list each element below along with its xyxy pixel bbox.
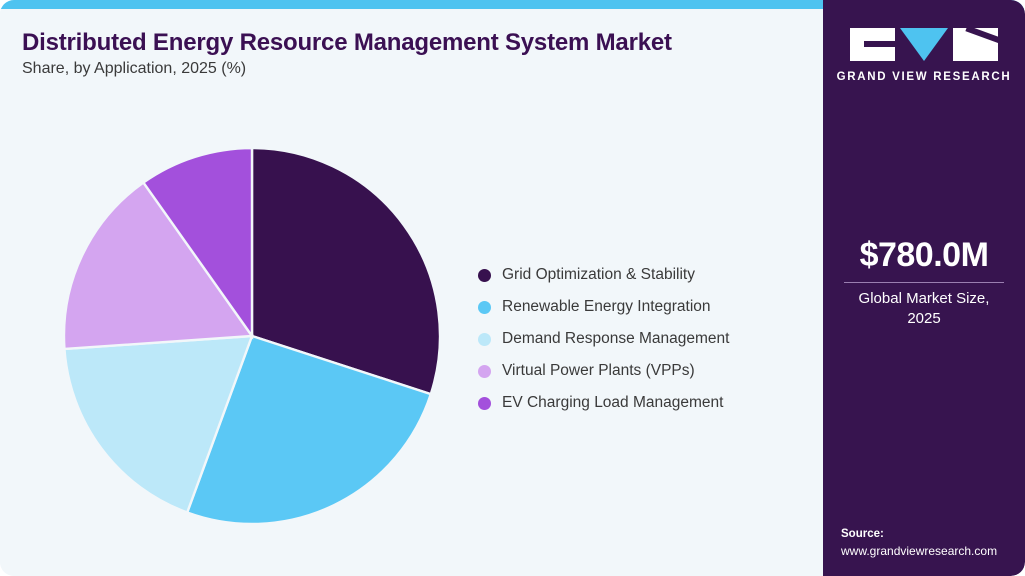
source-title: Source: bbox=[841, 526, 1021, 543]
market-size-value: $780.0M bbox=[823, 236, 1025, 275]
legend-item[interactable]: EV Charging Load Management bbox=[478, 387, 808, 419]
logo-g-icon bbox=[850, 28, 895, 61]
logo-marks bbox=[823, 28, 1025, 62]
chart-legend: Grid Optimization & StabilityRenewable E… bbox=[478, 259, 808, 419]
pie-chart-svg bbox=[62, 146, 442, 526]
legend-item-label: Demand Response Management bbox=[502, 330, 729, 348]
stat-divider bbox=[844, 282, 1004, 283]
grand-view-research-logo: GRAND VIEW RESEARCH bbox=[823, 28, 1025, 83]
legend-swatch-icon bbox=[478, 365, 491, 378]
legend-item-label: Grid Optimization & Stability bbox=[502, 266, 695, 284]
source-url[interactable]: www.grandviewresearch.com bbox=[841, 543, 1021, 560]
logo-r-icon bbox=[953, 28, 998, 61]
legend-item[interactable]: Grid Optimization & Stability bbox=[478, 259, 808, 291]
market-size-label: Global Market Size, 2025 bbox=[823, 289, 1025, 330]
legend-item[interactable]: Demand Response Management bbox=[478, 323, 808, 355]
legend-item[interactable]: Renewable Energy Integration bbox=[478, 291, 808, 323]
logo-wordmark: GRAND VIEW RESEARCH bbox=[823, 71, 1025, 83]
page-subtitle: Share, by Application, 2025 (%) bbox=[22, 60, 246, 78]
legend-item-label: Virtual Power Plants (VPPs) bbox=[502, 362, 695, 380]
legend-swatch-icon bbox=[478, 301, 491, 314]
source-block: Source: www.grandviewresearch.com bbox=[841, 526, 1021, 560]
legend-swatch-icon bbox=[478, 269, 491, 282]
legend-item-label: EV Charging Load Management bbox=[502, 394, 723, 412]
page-title: Distributed Energy Resource Management S… bbox=[22, 29, 812, 57]
market-size-stat: $780.0M Global Market Size, 2025 bbox=[823, 236, 1025, 330]
legend-item-label: Renewable Energy Integration bbox=[502, 298, 711, 316]
legend-swatch-icon bbox=[478, 333, 491, 346]
legend-swatch-icon bbox=[478, 397, 491, 410]
pie-slice-group bbox=[64, 148, 440, 524]
pie-chart bbox=[62, 146, 442, 526]
infographic-card: Distributed Energy Resource Management S… bbox=[0, 0, 1025, 576]
logo-v-icon bbox=[900, 28, 948, 61]
brand-panel: GRAND VIEW RESEARCH $780.0M Global Marke… bbox=[823, 0, 1025, 576]
chart-pane: Distributed Energy Resource Management S… bbox=[0, 9, 823, 576]
legend-item[interactable]: Virtual Power Plants (VPPs) bbox=[478, 355, 808, 387]
